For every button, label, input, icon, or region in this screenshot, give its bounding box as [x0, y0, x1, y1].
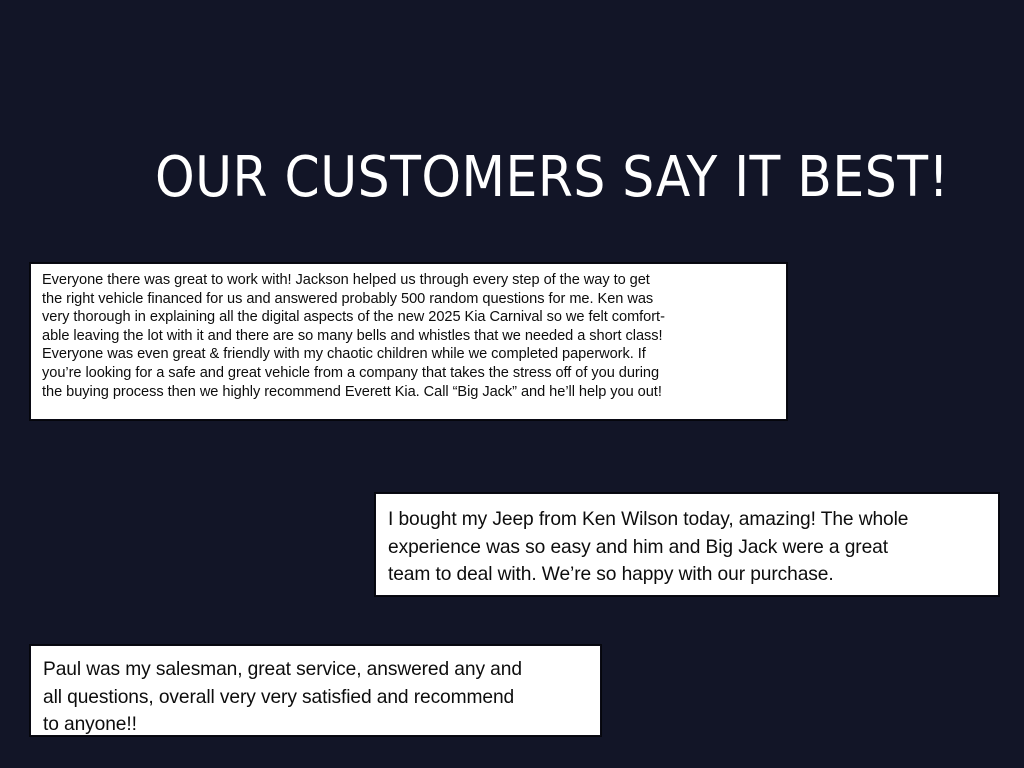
testimonial-text-1: Everyone there was great to work with! J… — [42, 271, 776, 401]
testimonial-card-2: I bought my Jeep from Ken Wilson today, … — [375, 493, 999, 596]
testimonial-text-3: Paul was my salesman, great service, ans… — [43, 656, 586, 739]
testimonial-card-1: Everyone there was great to work with! J… — [30, 263, 787, 420]
presentation-slide: OUR CUSTOMERS SAY IT BEST! Everyone ther… — [0, 0, 1024, 768]
testimonial-card-3: Paul was my salesman, great service, ans… — [30, 645, 601, 736]
testimonial-text-2: I bought my Jeep from Ken Wilson today, … — [388, 506, 984, 589]
page-title: OUR CUSTOMERS SAY IT BEST! — [155, 146, 885, 210]
